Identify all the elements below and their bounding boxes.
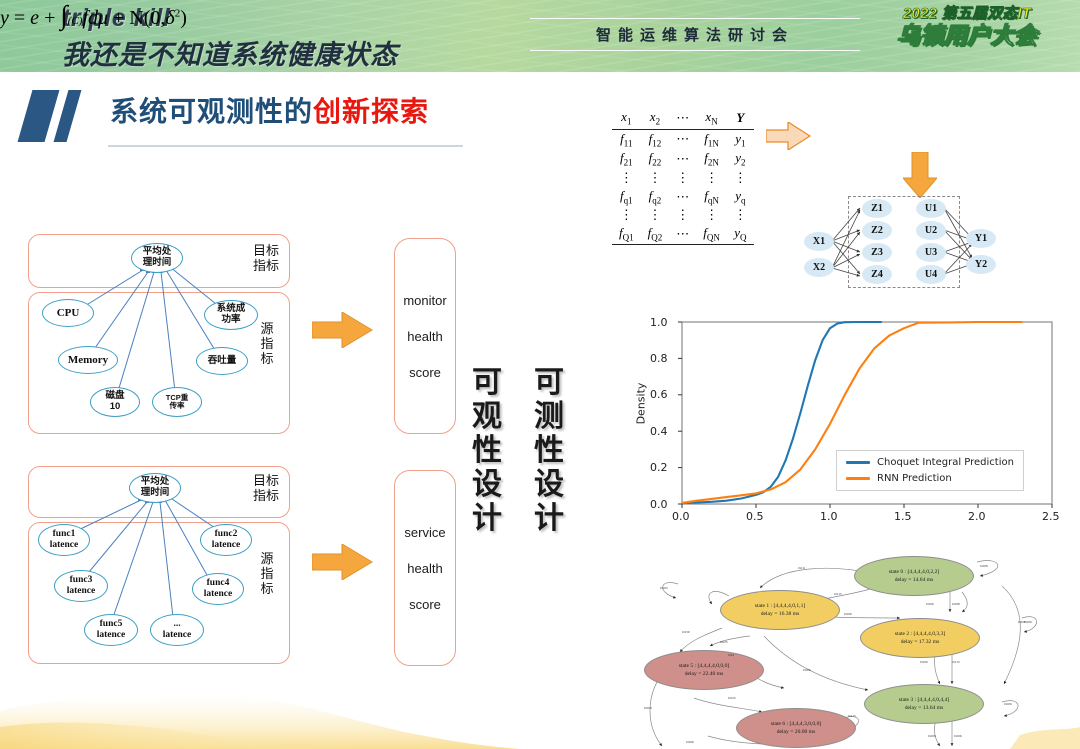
x-tick-4: 2.0 <box>968 510 986 523</box>
edge-weight: 0.64 <box>728 653 734 657</box>
metric-source-node-throughput: 吞吐量 <box>196 347 248 375</box>
edge-weight: 0.008 <box>980 564 988 568</box>
service-card-line-1: service <box>404 525 445 540</box>
state-node-2: state 2 : [4,4,4,4,0,3,3] delay = 17.32 … <box>860 618 980 658</box>
network-node-u4: U4 <box>916 265 946 284</box>
table-row: ⋮⋮ ⋮⋮ ⋮ <box>612 169 754 187</box>
legend-label-choquet: Choquet Integral Prediction <box>877 457 1014 468</box>
legend-swatch-choquet <box>846 461 870 463</box>
y-tick-2: 0.4 <box>650 425 668 438</box>
arrow-to-monitor-card <box>312 312 374 348</box>
table-row: f21 f22 ⋯ f2N y2 <box>612 149 754 169</box>
metric-source-node-cpu: CPU <box>42 299 94 327</box>
legend-item-choquet: Choquet Integral Prediction <box>846 457 1014 468</box>
service-source-node-func5: func5 latence <box>84 614 138 646</box>
y-axis-label: Density <box>634 383 647 425</box>
markov-state-diagram: state 0 : [4,4,4,4,0,2,2] delay = 14.64 … <box>632 556 1080 749</box>
service-source-node-func3: func3 latence <box>54 570 108 602</box>
chart-canvas <box>636 312 1066 552</box>
edge-weight: 0.011 <box>798 566 806 570</box>
x-tick-2: 1.0 <box>820 510 838 523</box>
vertical-label-observability: 可观性设计 <box>470 366 504 535</box>
service-card-line-2: health <box>407 561 442 576</box>
banner-title-cn: 我还是不知道系统健康状态 <box>62 33 398 72</box>
title-bar-2 <box>54 90 82 142</box>
table-row: fq1 fq2 ⋯ fqN yq <box>612 187 754 207</box>
state-node-0: state 0 : [4,4,4,4,0,2,2] delay = 14.64 … <box>854 556 974 596</box>
service-source-node-func1: func1 latence <box>38 524 90 556</box>
table-row: fQ1 fQ2 ⋯ fQN yQ <box>612 224 754 244</box>
edge-weight: 0.006 <box>1004 702 1012 706</box>
metric-source-node-memory: Memory <box>58 346 118 374</box>
network-node-u1: U1 <box>916 199 946 218</box>
x-tick-0: 0.0 <box>672 510 690 523</box>
network-node-x1: X1 <box>804 232 834 251</box>
title-underline <box>108 145 463 147</box>
state-node-6: state 6 : [4,4,4,3,0,0,0] delay = 20.00 … <box>736 708 856 748</box>
network-node-u3: U3 <box>916 243 946 262</box>
y-tick-5: 1.0 <box>650 316 668 329</box>
density-prediction-chart: 0.0 0.2 0.4 0.6 0.8 1.0 0.0 0.5 1.0 1.5 … <box>636 312 1066 552</box>
network-node-z4: Z4 <box>862 265 892 284</box>
edge-weight: 0.015 <box>834 592 842 596</box>
y-tick-3: 0.6 <box>650 388 668 401</box>
edge-weight: 0.025 <box>728 696 736 700</box>
metric-source-node-tcp-retrans: TCP重 传率 <box>152 387 202 417</box>
legend-swatch-rnn <box>846 477 870 479</box>
page-title: 系统可观测性的创新探索 <box>110 90 429 130</box>
y-tick-1: 0.2 <box>650 461 668 474</box>
legend-item-rnn: RNN Prediction <box>846 473 1014 484</box>
y-tick-4: 0.8 <box>650 352 668 365</box>
edge-weight: 0.006 <box>954 734 962 738</box>
title-bars-decor <box>25 90 91 142</box>
metric-target-node: 平均处 理时间 <box>131 243 183 273</box>
service-source-node-func4: func4 latence <box>192 573 244 605</box>
edge-weight: 0.006 <box>803 668 811 672</box>
arrow-to-service-card <box>312 544 374 580</box>
state-node-3: state 3 : [4,4,4,4,0,4,4] delay = 13.64 … <box>864 684 984 724</box>
network-node-y1: Y1 <box>966 229 996 248</box>
edge-weight: 0.059 <box>682 630 690 634</box>
edge-weight: 0.008 <box>644 706 652 710</box>
metric-source-node-disk-io: 磁盘 10 <box>90 387 140 417</box>
logo-line-2: 乌镇用户大会 <box>872 24 1062 47</box>
conference-name: 智能运维算法研讨会 <box>530 18 860 51</box>
page-title-accent: 创新探索 <box>313 96 429 127</box>
edge-weight: 0.006 <box>928 734 936 738</box>
page-title-main: 系统可观测性的 <box>110 96 313 127</box>
service-source-node-func2: func2 latence <box>200 524 252 556</box>
edge-weight: 0.006 <box>926 602 934 606</box>
edge-weight: 0.063 <box>660 586 668 590</box>
arrow-formula-to-network <box>903 152 937 198</box>
service-health-score-card: service health score <box>394 470 456 666</box>
monitor-card-line-3: score <box>409 365 441 380</box>
slide-title-area: 系统可观测性的创新探索 <box>0 88 560 152</box>
table-header-row: x1 x2 ⋯ xN Y <box>612 108 754 129</box>
service-source-node-other: ... latence <box>150 614 204 646</box>
table-row: ⋮⋮ ⋮⋮ ⋮ <box>612 206 754 224</box>
network-node-z2: Z2 <box>862 221 892 240</box>
monitor-card-line-2: health <box>407 329 442 344</box>
x-tick-3: 1.5 <box>894 510 912 523</box>
edge-weight: 0.008 <box>952 602 960 606</box>
state-node-5: state 5 : [4,4,4,4,0,0,0] delay = 22.40 … <box>644 650 764 690</box>
network-node-z1: Z1 <box>862 199 892 218</box>
edge-weight: 0.013 <box>952 660 960 664</box>
logo-line-1: 2022 第五届双态IT <box>872 6 1062 21</box>
service-card-line-3: score <box>409 597 441 612</box>
edge-weight: 0.006 <box>844 612 852 616</box>
neural-network-diagram: X1 X2 Z1 Z2 Z3 Z4 U1 U2 U3 U4 Y1 Y2 <box>800 196 1000 292</box>
table-row: f11 f12 ⋯ f1N y1 <box>612 129 754 149</box>
service-dependency-diagram: 目标指标 源指标 平均处 理时间 func1 latence func2 lat… <box>28 466 290 664</box>
feature-matrix-table: x1 x2 ⋯ xN Y f11 f12 ⋯ f1N y1 f21 f22 ⋯ … <box>612 108 754 245</box>
state-node-1: state 1 : [4,4,4,4,0,1,1] delay = 16.38 … <box>720 590 840 630</box>
monitor-card-line-1: monitor <box>403 293 446 308</box>
service-target-node: 平均处 理时间 <box>129 473 181 503</box>
x-tick-1: 0.5 <box>746 510 764 523</box>
chart-legend: Choquet Integral Prediction RNN Predicti… <box>836 450 1024 491</box>
vertical-label-measurability: 可测性设计 <box>532 366 566 535</box>
metric-source-node-success-rate: 系统成 功率 <box>204 300 258 330</box>
metric-dependency-diagram: 目标指标 源指标 平均处 理时间 CPU 系统成 功率 Memory 吞吐量 磁… <box>28 234 290 434</box>
x-tick-5: 2.5 <box>1042 510 1060 523</box>
network-node-u2: U2 <box>916 221 946 240</box>
y-tick-0: 0.0 <box>650 498 668 511</box>
edge-weight: 0.006 <box>686 740 694 744</box>
choquet-integral-formula: y = e + ∫(C)fdμ + N(0,δ2) <box>0 0 187 31</box>
edge-weight: 0.025 <box>720 640 728 644</box>
conference-logo: 2022 第五届双态IT 乌镇用户大会 <box>872 6 1062 66</box>
edge-weight: 0.006 <box>1024 620 1032 624</box>
edge-weight: 0.013 <box>848 714 856 718</box>
arrow-matrix-to-formula <box>766 122 812 150</box>
monitor-health-score-card: monitor health score <box>394 238 456 434</box>
network-node-y2: Y2 <box>966 255 996 274</box>
network-node-z3: Z3 <box>862 243 892 262</box>
feature-matrix: x1 x2 ⋯ xN Y f11 f12 ⋯ f1N y1 f21 f22 ⋯ … <box>612 108 754 245</box>
network-node-x2: X2 <box>804 258 834 277</box>
title-bar-1 <box>18 90 60 142</box>
edge-weight: 0.006 <box>920 660 928 664</box>
legend-label-rnn: RNN Prediction <box>877 473 952 484</box>
